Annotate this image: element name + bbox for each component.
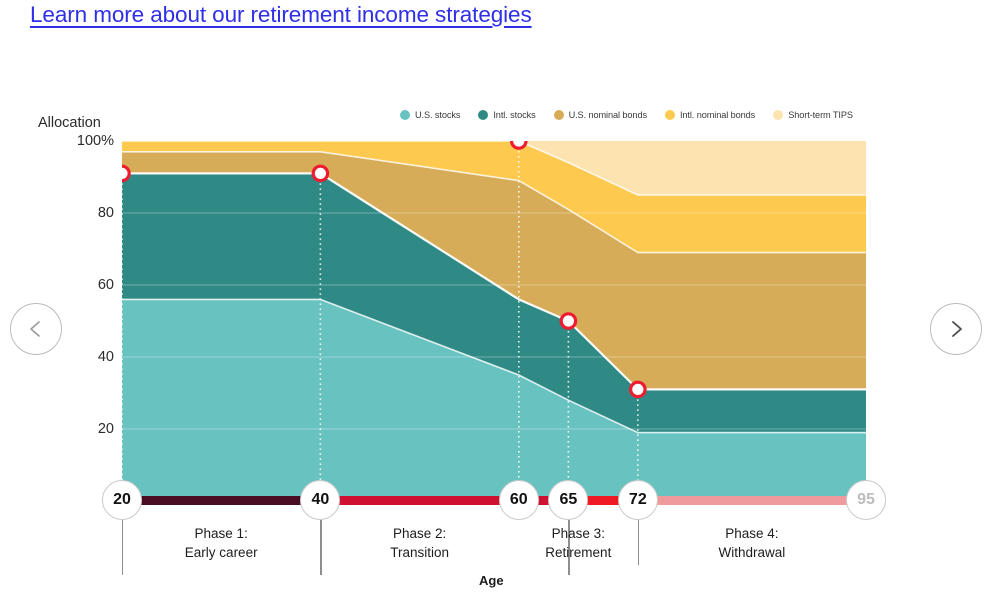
y-tick-label: 60 [48,277,114,293]
legend-label: Intl. nominal bonds [680,110,755,120]
age-marker-40[interactable]: 40 [300,480,340,520]
legend-item-2[interactable]: U.S. nominal bonds [554,110,647,120]
chevron-left-icon [26,319,46,339]
y-tick-label: 80 [48,205,114,221]
x-axis-title: Age [479,573,504,588]
timeline-segment-2 [320,496,518,505]
carousel-next-button[interactable] [930,303,982,355]
age-marker-72[interactable]: 72 [618,480,658,520]
legend-label: Short-term TIPS [788,110,853,120]
stock-allocation-marker[interactable] [122,166,129,180]
stock-allocation-marker[interactable] [512,141,526,148]
legend-item-4[interactable]: Short-term TIPS [773,110,853,120]
phase-label-line1: Phase 1: [185,524,258,543]
y-tick-label: 40 [48,349,114,365]
y-tick-label: 20 [48,421,114,437]
legend-item-1[interactable]: Intl. stocks [478,110,535,120]
legend-swatch-icon [400,110,410,120]
phase-label-line2: Transition [390,543,449,562]
legend-swatch-icon [554,110,564,120]
phase-label-1: Phase 1:Early career [185,524,258,562]
legend-label: U.S. stocks [415,110,460,120]
timeline-tick-stub [320,520,321,575]
phase-label-line1: Phase 4: [719,524,786,543]
legend-item-3[interactable]: Intl. nominal bonds [665,110,755,120]
legend-label: Intl. stocks [493,110,535,120]
legend-swatch-icon [478,110,488,120]
chart-legend: U.S. stocksIntl. stocksU.S. nominal bond… [400,110,853,120]
age-marker-65[interactable]: 65 [548,480,588,520]
age-marker-20[interactable]: 20 [102,480,142,520]
timeline-segment-4 [638,496,866,505]
age-marker-60[interactable]: 60 [499,480,539,520]
phase-label-line1: Phase 3: [545,524,611,543]
y-axis-ticks: 100%806040200 [48,0,114,607]
phase-label-line2: Retirement [545,543,611,562]
phase-label-3: Phase 3:Retirement [545,524,611,562]
chevron-right-icon [946,319,966,339]
age-timeline: 204060657295Phase 1:Early careerPhase 2:… [110,480,900,575]
phase-label-line2: Early career [185,543,258,562]
legend-swatch-icon [773,110,783,120]
phase-label-line2: Withdrawal [719,543,786,562]
legend-item-0[interactable]: U.S. stocks [400,110,460,120]
timeline-segment-1 [122,496,320,505]
phase-label-line1: Phase 2: [390,524,449,543]
legend-label: U.S. nominal bonds [569,110,647,120]
stock-allocation-marker[interactable] [313,166,327,180]
legend-swatch-icon [665,110,675,120]
stock-allocation-marker[interactable] [561,314,575,328]
phase-label-4: Phase 4:Withdrawal [719,524,786,562]
y-tick-label: 100% [48,133,114,149]
age-marker-95[interactable]: 95 [846,480,886,520]
timeline-tick-stub [638,520,639,565]
timeline-tick-stub [122,520,123,575]
phase-label-2: Phase 2:Transition [390,524,449,562]
allocation-area-chart [122,141,866,501]
stock-allocation-marker[interactable] [631,382,645,396]
